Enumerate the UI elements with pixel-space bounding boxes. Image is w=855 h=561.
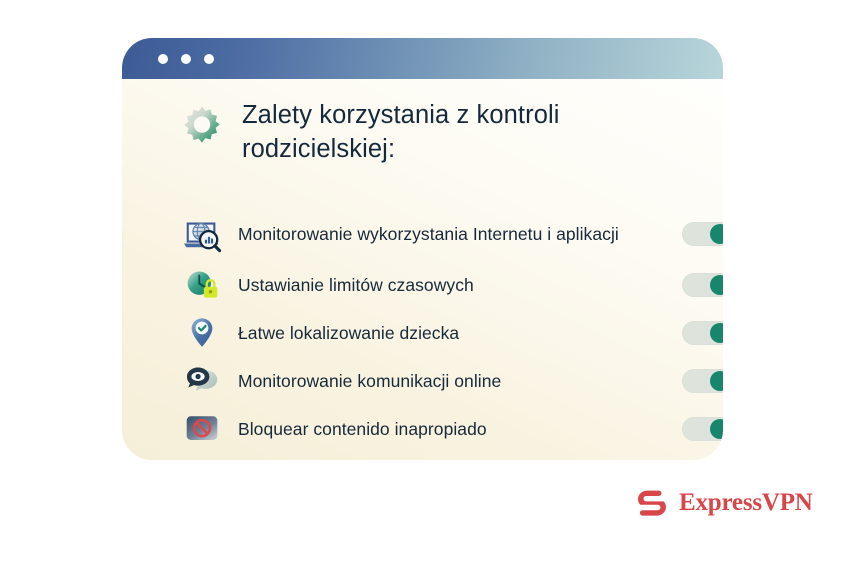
maximize-dot[interactable] [204,54,214,64]
heading-row: Zalety korzystania z kontroli rodziciels… [178,99,678,167]
gear-icon [178,103,226,151]
list-item[interactable]: Łatwe lokalizowanie dziecka [180,309,680,357]
chat-bubble-eye-icon [180,361,224,401]
window-title-bar [122,38,723,79]
laptop-globe-search-icon [180,214,224,254]
blocked-screen-icon [180,409,224,449]
toggle-knob [710,371,723,391]
page-title: Zalety korzystania z kontroli rodziciels… [242,99,642,167]
expressvpn-logo-icon [635,486,669,520]
browser-window-card: Zalety korzystania z kontroli rodziciels… [122,38,723,460]
feature-list: Monitorowanie wykorzystania Internetu i … [180,207,680,453]
toggle-knob [710,323,723,343]
brand-name: ExpressVPN [679,489,813,517]
list-item-label: Monitorowanie komunikacji online [238,370,680,393]
feature-toggle[interactable] [682,369,723,393]
feature-toggle[interactable] [682,222,723,246]
list-item[interactable]: Ustawianie limitów czasowych [180,261,680,309]
close-dot[interactable] [158,54,168,64]
clock-lock-icon [180,265,224,305]
card-body: Zalety korzystania z kontroli rodziciels… [122,79,723,460]
minimize-dot[interactable] [181,54,191,64]
feature-toggle[interactable] [682,321,723,345]
toggle-knob [710,419,723,439]
brand-logo: ExpressVPN [635,486,813,520]
toggle-knob [710,224,723,244]
location-pin-check-icon [180,313,224,353]
window-controls [158,54,214,64]
list-item-label: Ustawianie limitów czasowych [238,274,680,297]
feature-toggle[interactable] [682,273,723,297]
list-item-label: Bloquear contenido inapropiado [238,418,680,441]
list-item-label: Monitorowanie wykorzystania Internetu i … [238,223,680,246]
list-item[interactable]: Monitorowanie wykorzystania Internetu i … [180,207,680,261]
list-item[interactable]: Monitorowanie komunikacji online [180,357,680,405]
toggle-knob [710,275,723,295]
list-item-label: Łatwe lokalizowanie dziecka [238,322,680,345]
feature-toggle[interactable] [682,417,723,441]
list-item[interactable]: Bloquear contenido inapropiado [180,405,680,453]
